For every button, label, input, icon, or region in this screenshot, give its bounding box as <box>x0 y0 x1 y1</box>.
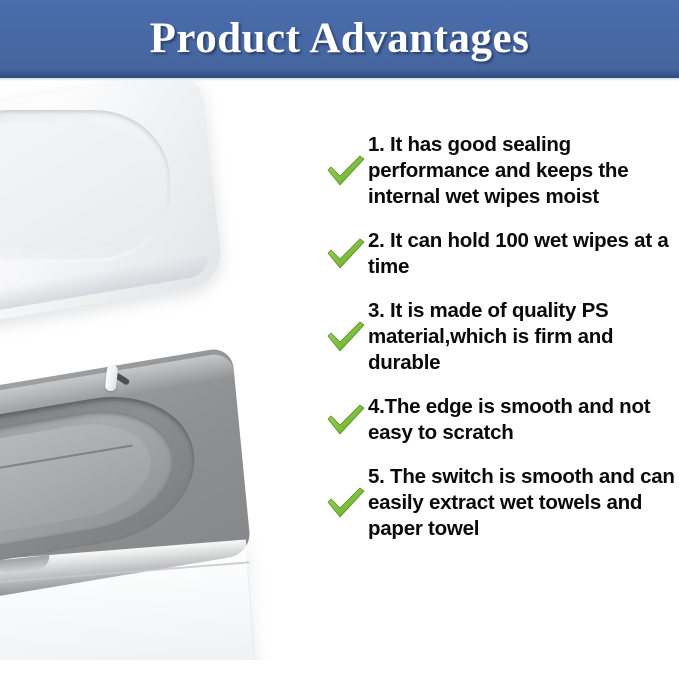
check-icon <box>325 319 367 355</box>
advantage-text: 2. It can hold 100 wet wipes at a time <box>368 228 679 280</box>
product-photo-inner <box>0 80 340 660</box>
advantage-text: 1. It has good sealing performance and k… <box>368 132 679 210</box>
check-icon <box>325 485 367 521</box>
advantages-list: 1. It has good sealing performance and k… <box>325 132 679 560</box>
check-icon <box>325 153 367 189</box>
product-advantages-infographic: Product Advantages <box>0 0 679 679</box>
product-photo <box>0 80 340 660</box>
check-icon <box>325 402 367 438</box>
check-icon <box>325 236 367 272</box>
header-banner: Product Advantages <box>0 0 679 78</box>
advantage-text: 3. It is made of quality PS material,whi… <box>368 298 679 376</box>
list-item: 4.The edge is smooth and not easy to scr… <box>325 394 679 446</box>
advantage-text: 4.The edge is smooth and not easy to scr… <box>368 394 679 446</box>
advantage-text: 5. The switch is smooth and can easily e… <box>368 464 679 542</box>
list-item: 5. The switch is smooth and can easily e… <box>325 464 679 542</box>
list-item: 3. It is made of quality PS material,whi… <box>325 298 679 376</box>
page-title: Product Advantages <box>150 17 530 60</box>
list-item: 1. It has good sealing performance and k… <box>325 132 679 210</box>
dispenser-lid-inset-inner <box>0 122 156 250</box>
list-item: 2. It can hold 100 wet wipes at a time <box>325 228 679 280</box>
